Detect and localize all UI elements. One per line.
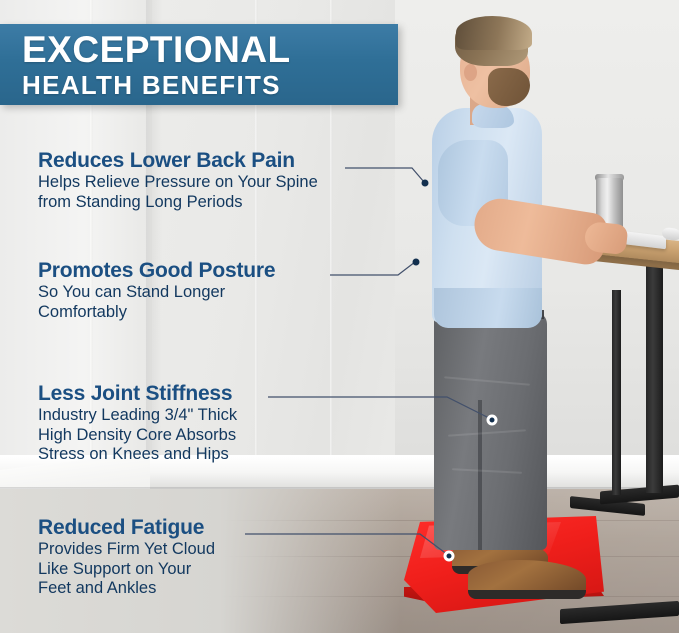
benefit-desc-line: Comfortably: [38, 303, 275, 323]
benefit-desc-line: from Standing Long Periods: [38, 193, 318, 213]
benefit-desc-3: Industry Leading 3/4" Thick High Density…: [38, 406, 237, 465]
desk-leg: [646, 263, 663, 493]
benefit-desc-line: High Density Core Absorbs: [38, 426, 237, 446]
benefit-desc-4: Provides Firm Yet Cloud Like Support on …: [38, 540, 215, 599]
benefit-block-3: Less Joint Stiffness Industry Leading 3/…: [38, 381, 237, 465]
person-standing: [400, 0, 600, 600]
infographic-root: EXCEPTIONAL HEALTH BENEFITS Reduces Lowe…: [0, 0, 679, 633]
benefit-desc-line: Stress on Knees and Hips: [38, 445, 237, 465]
benefit-title-3: Less Joint Stiffness: [38, 381, 237, 406]
callout-dot-anti-fatigue-mat: [444, 551, 455, 562]
banner-title-line1: EXCEPTIONAL: [22, 30, 398, 70]
benefit-desc-line: So You can Stand Longer: [38, 283, 275, 303]
benefit-desc-line: Provides Firm Yet Cloud: [38, 540, 215, 560]
banner-title-line2: HEALTH BENEFITS: [22, 70, 398, 100]
shoe-sole: [468, 590, 586, 599]
callout-dot-knee-joint: [487, 415, 498, 426]
callout-dot-lower-back: [422, 180, 429, 187]
shirt-hem: [434, 288, 542, 328]
benefit-desc-1: Helps Relieve Pressure on Your Spine fro…: [38, 173, 318, 212]
ear: [464, 64, 477, 81]
callout-dot-posture-spine: [413, 259, 420, 266]
beard: [488, 68, 530, 106]
benefit-block-2: Promotes Good Posture So You can Stand L…: [38, 258, 275, 322]
hair-top: [456, 16, 532, 50]
benefit-block-1: Reduces Lower Back Pain Helps Relieve Pr…: [38, 148, 318, 212]
benefit-desc-2: So You can Stand Longer Comfortably: [38, 283, 275, 322]
desk-leg: [612, 290, 621, 495]
benefit-title-2: Promotes Good Posture: [38, 258, 275, 283]
header-banner: EXCEPTIONAL HEALTH BENEFITS: [0, 24, 398, 105]
benefit-desc-line: Helps Relieve Pressure on Your Spine: [38, 173, 318, 193]
benefit-title-1: Reduces Lower Back Pain: [38, 148, 318, 173]
benefit-block-4: Reduced Fatigue Provides Firm Yet Cloud …: [38, 515, 215, 599]
pant-leg-split: [478, 400, 482, 550]
benefit-desc-line: Like Support on Your: [38, 560, 215, 580]
benefit-title-4: Reduced Fatigue: [38, 515, 215, 540]
benefit-desc-line: Industry Leading 3/4" Thick: [38, 406, 237, 426]
benefit-desc-line: Feet and Ankles: [38, 579, 215, 599]
